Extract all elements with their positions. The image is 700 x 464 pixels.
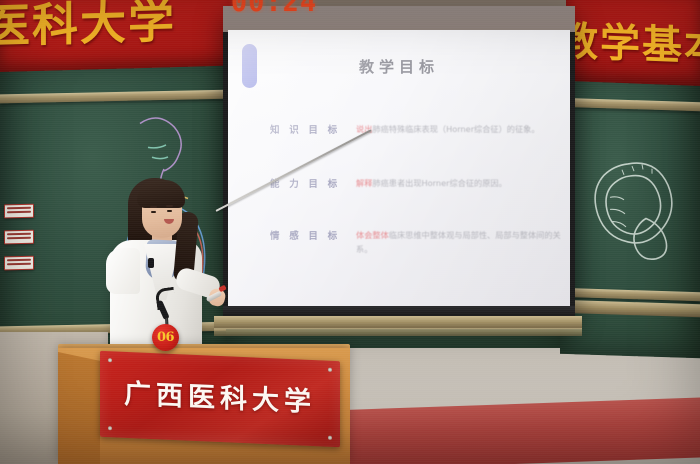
- presenter-shoulder: [106, 248, 140, 294]
- presenter-lapel-mic: [148, 258, 154, 268]
- presenter-eyebrow: [150, 206, 157, 208]
- board-rail: [560, 288, 700, 301]
- presenter-eyebrow: [166, 205, 173, 207]
- chalk-drawing-right: [584, 153, 688, 266]
- plaque-screw: [108, 426, 112, 430]
- slide-row-body: 肺癌患者出现Horner综合征的原因。: [372, 178, 506, 188]
- board-label-card: [4, 256, 34, 271]
- slide-title: 教学目标: [228, 56, 570, 77]
- plaque-screw: [108, 358, 112, 362]
- board-label-card: [4, 230, 34, 245]
- slide-row-label: 知 识 目 标: [270, 122, 340, 136]
- projection-screen-frame: 教学目标 知 识 目 标 说出肺癌特殊临床表现（Horner综合征）的征象。 能…: [223, 6, 575, 318]
- lecture-hall-photo: 医科大学 教学基本 教学目标 知 识 目 标 说出肺癌特殊临床表现（Horner…: [0, 0, 700, 464]
- projected-slide: 教学目标 知 识 目 标 说出肺癌特殊临床表现（Horner综合征）的征象。 能…: [228, 30, 570, 306]
- board-label-card: [4, 204, 34, 219]
- banner-right: 教学基本: [566, 0, 700, 86]
- blackboard-right: [560, 64, 700, 358]
- contestant-number-badge: 06: [152, 324, 179, 351]
- slide-row-label: 情 感 目 标: [270, 228, 340, 242]
- podium-side-panel: [58, 352, 100, 464]
- slide-row-highlight: 体会整体: [356, 230, 389, 240]
- board-rail: [560, 98, 700, 111]
- slide-row-text: 解释肺癌患者出现Horner综合征的原因。: [356, 176, 561, 190]
- countdown-timer: 00:24: [228, 0, 320, 13]
- banner-left: 医科大学: [0, 0, 236, 72]
- floor-red-carpet: [330, 398, 700, 464]
- podium-plaque: 广西医科大学: [100, 351, 340, 447]
- plaque-screw: [328, 436, 332, 440]
- slide-row-text: 说出肺癌特殊临床表现（Horner综合征）的征象。: [356, 122, 561, 136]
- board-rail: [0, 90, 232, 104]
- contestant-number-text: 06: [157, 330, 174, 345]
- banner-right-text: 教学基本: [566, 9, 700, 73]
- screen-support-ledge-lower: [214, 328, 582, 336]
- slide-row-text: 体会整体临床思维中整体观与局部性、局部与整体间的关系。: [356, 228, 561, 256]
- podium-plaque-text: 广西医科大学: [100, 371, 340, 420]
- board-ledge: [560, 300, 700, 317]
- slide-row-body: 肺癌特殊临床表现（Horner综合征）的征象。: [372, 124, 539, 134]
- plaque-screw: [328, 368, 332, 372]
- slide-row-highlight: 解释: [356, 178, 372, 188]
- banner-left-text: 医科大学: [0, 0, 176, 56]
- presenter-hair-front: [137, 180, 185, 208]
